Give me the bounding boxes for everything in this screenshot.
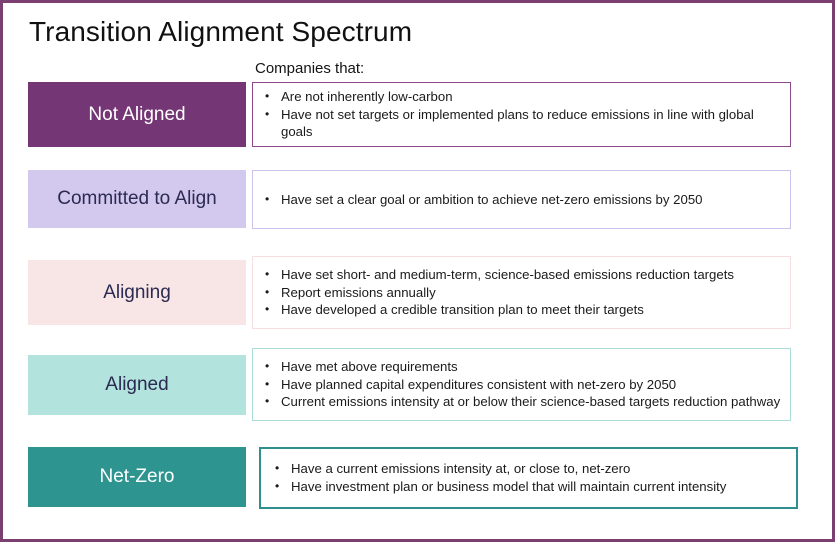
criteria-box-net-zero: Have a current emissions intensity at, o… [259, 447, 798, 509]
list-item: Have not set targets or implemented plan… [259, 106, 772, 141]
criteria-box-aligning: Have set short- and medium-term, science… [252, 256, 791, 329]
list-item: Have investment plan or business model t… [269, 478, 788, 496]
slide-canvas: Transition Alignment Spectrum Companies … [0, 0, 835, 542]
page-title: Transition Alignment Spectrum [29, 14, 412, 50]
category-chip-not-aligned[interactable]: Not Aligned [28, 82, 246, 147]
list-item: Have developed a credible transition pla… [259, 301, 782, 319]
list-item: Have set a clear goal or ambition to ach… [259, 191, 782, 209]
list-item: Current emissions intensity at or below … [259, 393, 782, 411]
category-chip-aligned[interactable]: Aligned [28, 355, 246, 415]
category-chip-committed-to-align[interactable]: Committed to Align [28, 170, 246, 228]
category-label: Committed to Align [57, 187, 216, 211]
criteria-box-not-aligned: Are not inherently low-carbon Have not s… [252, 82, 791, 147]
category-chip-net-zero[interactable]: Net-Zero [28, 447, 246, 507]
criteria-list: Have a current emissions intensity at, o… [269, 460, 788, 495]
category-chip-aligning[interactable]: Aligning [28, 260, 246, 325]
criteria-box-committed-to-align: Have set a clear goal or ambition to ach… [252, 170, 791, 229]
list-item: Report emissions annually [259, 284, 782, 302]
criteria-list: Have met above requirements Have planned… [259, 358, 782, 411]
list-item: Have set short- and medium-term, science… [259, 266, 782, 284]
list-item: Are not inherently low-carbon [259, 88, 772, 106]
criteria-list: Have set short- and medium-term, science… [259, 266, 782, 319]
list-item: Have a current emissions intensity at, o… [269, 460, 788, 478]
category-label: Aligned [105, 373, 168, 397]
criteria-list: Have set a clear goal or ambition to ach… [259, 191, 782, 209]
criteria-list: Are not inherently low-carbon Have not s… [259, 88, 782, 141]
list-item: Have planned capital expenditures consis… [259, 376, 782, 394]
category-label: Net-Zero [100, 465, 175, 489]
companies-that-header: Companies that: [255, 59, 364, 79]
list-item: Have met above requirements [259, 358, 782, 376]
category-label: Not Aligned [88, 103, 185, 127]
category-label: Aligning [103, 281, 171, 305]
criteria-box-aligned: Have met above requirements Have planned… [252, 348, 791, 421]
